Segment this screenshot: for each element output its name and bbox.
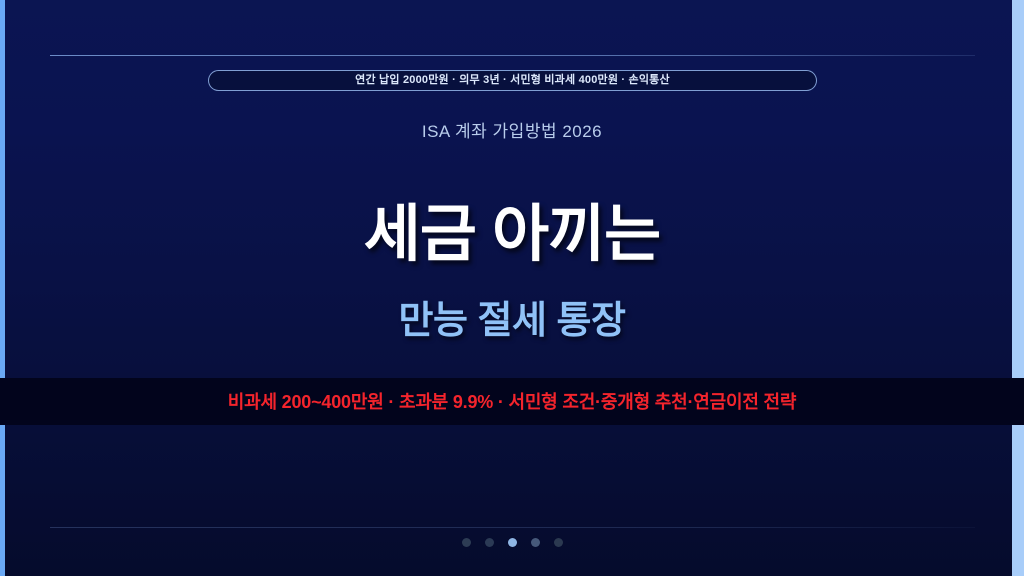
accent-bar-left: [0, 0, 5, 576]
eyebrow-pill: 연간 납입 2000만원 · 의무 3년 · 서민형 비과세 400만원 · 손…: [208, 70, 817, 91]
pagination-dot-1[interactable]: [462, 538, 471, 547]
eyebrow-pill-text: 연간 납입 2000만원 · 의무 3년 · 서민형 비과세 400만원 · 손…: [355, 75, 670, 86]
pagination-dot-4[interactable]: [531, 538, 540, 547]
pagination-dots[interactable]: [0, 538, 1024, 547]
slide-kicker: ISA 계좌 가입방법 2026: [0, 117, 1024, 142]
headline-line-1: 세금 아끼는: [0, 183, 1024, 273]
presentation-slide: 연간 납입 2000만원 · 의무 3년 · 서민형 비과세 400만원 · 손…: [0, 0, 1024, 576]
highlight-banner-text: 비과세 200~400만원 · 초과분 9.9% · 서민형 조건·중개형 추천…: [228, 393, 796, 411]
accent-bar-right: [1012, 0, 1024, 576]
highlight-banner: 비과세 200~400만원 · 초과분 9.9% · 서민형 조건·중개형 추천…: [0, 378, 1024, 425]
pagination-dot-5[interactable]: [554, 538, 563, 547]
pagination-dot-3[interactable]: [508, 538, 517, 547]
divider-bottom: [50, 527, 975, 528]
headline-line-2: 만능 절세 통장: [0, 289, 1024, 344]
divider-top: [50, 55, 975, 56]
pagination-dot-2[interactable]: [485, 538, 494, 547]
